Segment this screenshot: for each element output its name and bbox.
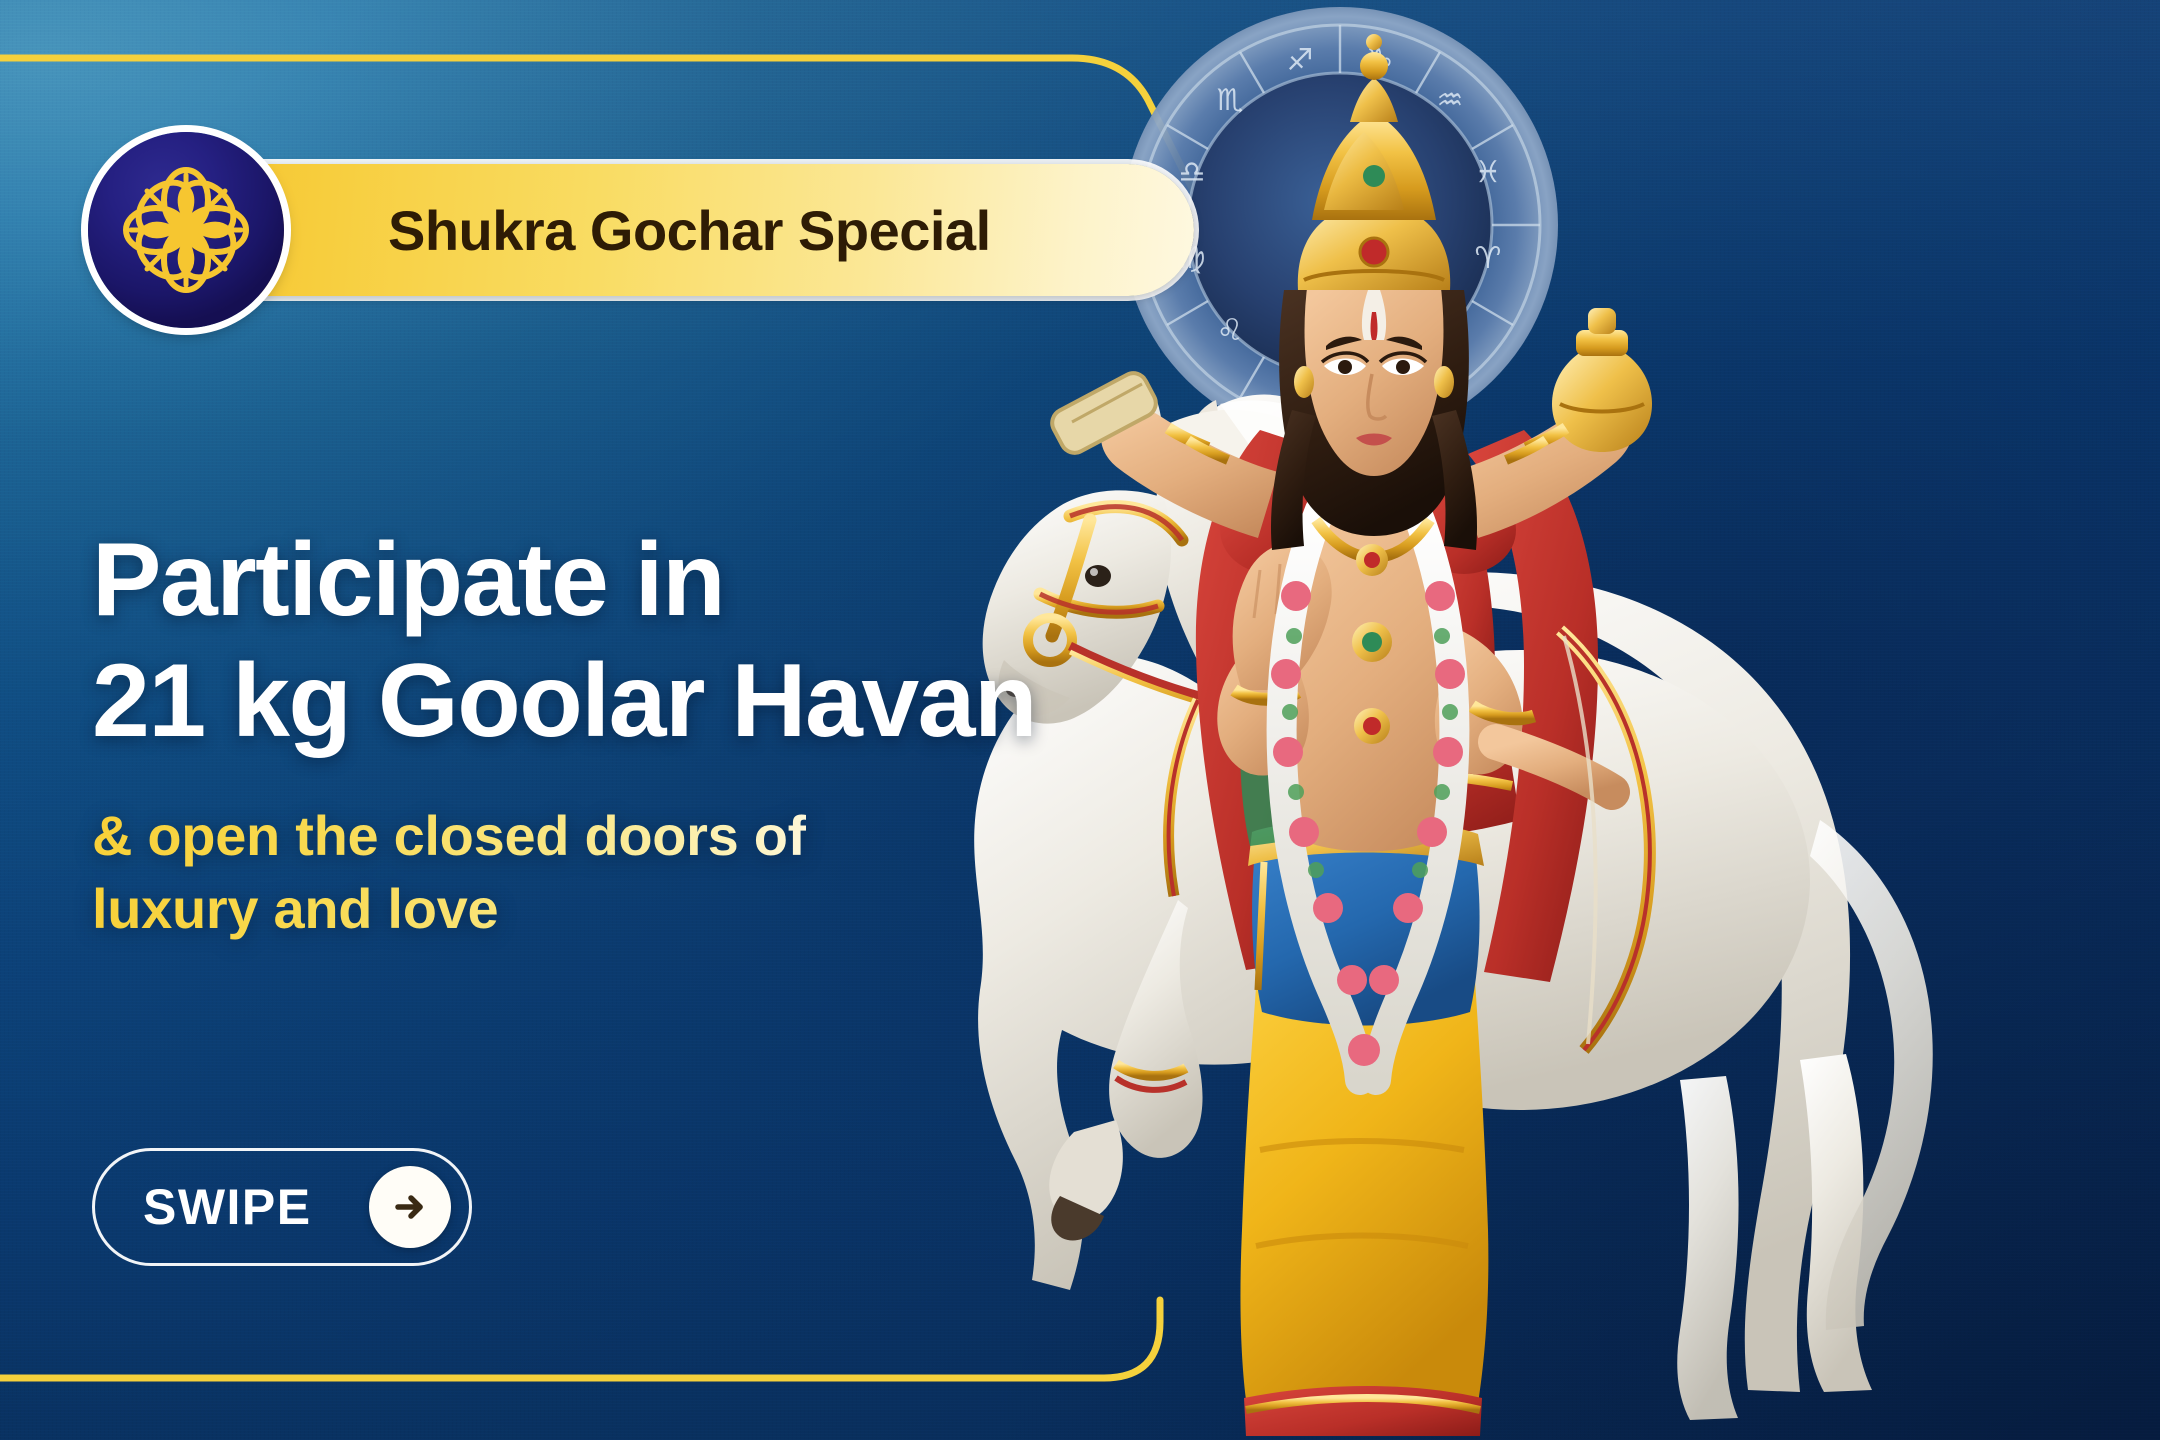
svg-text:♌: ♌	[1217, 313, 1244, 348]
subheadline: & open the closed doors of luxury and lo…	[92, 800, 806, 946]
badge: Shukra Gochar Special	[88, 150, 284, 310]
svg-text:♏: ♏	[1217, 83, 1244, 118]
lotus-rosette-mandala-icon	[88, 132, 284, 328]
svg-text:♎: ♎	[1179, 155, 1206, 190]
swipe-button[interactable]: SWIPE	[92, 1148, 472, 1266]
subheadline-line-2: luxury and love	[92, 873, 806, 946]
page-title: Participate in 21 kg Goolar Havan	[92, 520, 1036, 761]
svg-text:♈: ♈	[1475, 241, 1502, 276]
svg-text:♒: ♒	[1437, 83, 1464, 118]
subheadline-line-1: & open the closed doors of	[92, 800, 806, 873]
badge-label: Shukra Gochar Special	[388, 164, 991, 296]
svg-text:♐: ♐	[1287, 43, 1314, 78]
svg-text:♓: ♓	[1475, 155, 1502, 190]
headline-line-2: 21 kg Goolar Havan	[92, 641, 1036, 762]
headline-line-1: Participate in	[92, 520, 1036, 641]
arrow-right-icon[interactable]	[369, 1166, 451, 1248]
swipe-button-label: SWIPE	[143, 1178, 312, 1236]
promo-banner: ♑ ♒ ♓ ♈ ♉ ♊ ♋ ♌ ♍ ♎ ♏ ♐	[0, 0, 2160, 1440]
